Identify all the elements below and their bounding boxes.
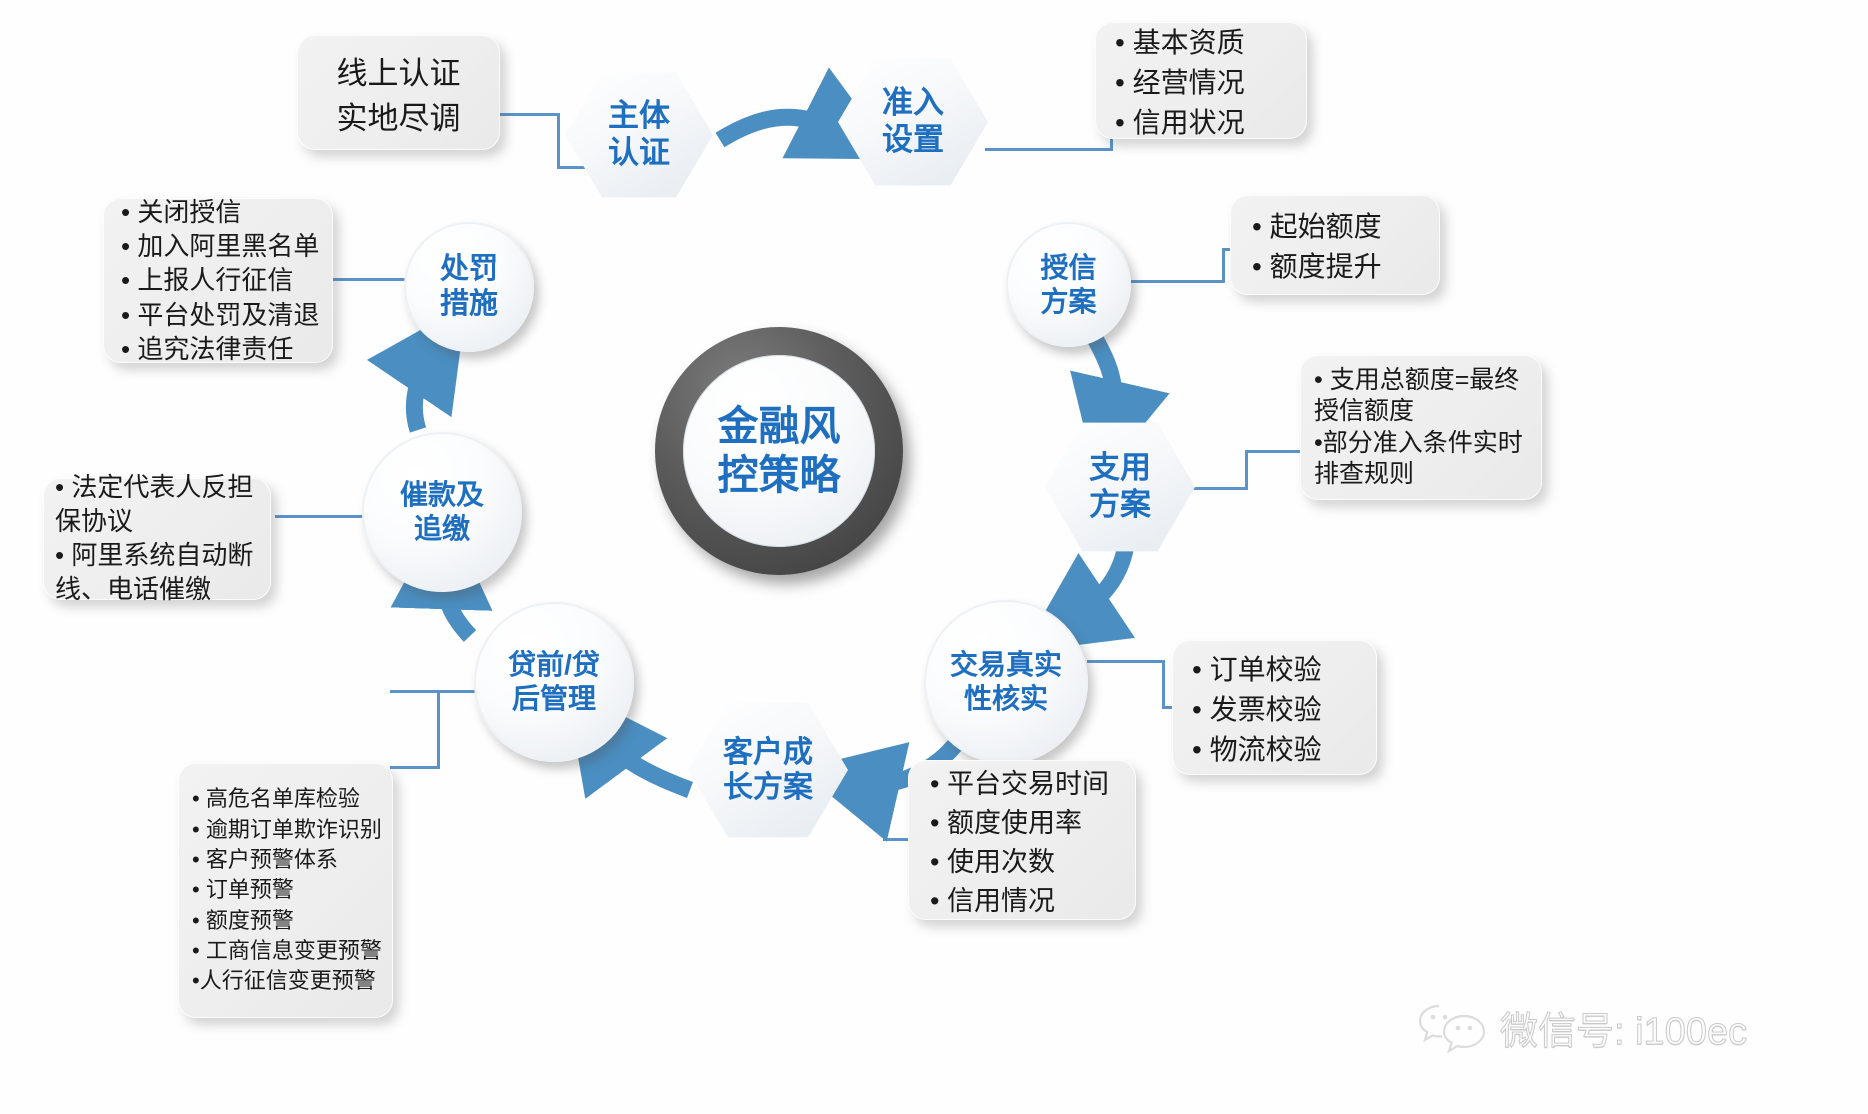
node-customer-growth-line2: 长方案 bbox=[723, 770, 813, 805]
node-access-setting[interactable]: 准入 设置 bbox=[838, 56, 988, 188]
callout-subject-auth-line-1: 实地尽调 bbox=[337, 93, 461, 138]
callout-growth-line-0: • 平台交易时间 bbox=[930, 762, 1136, 801]
diagram-canvas: 金融风 控策略 主体 认证 准入 设置 授信 方案 支用 方案 交易真实 bbox=[0, 0, 1868, 1114]
callout-subject-auth: 线上认证 实地尽调 bbox=[297, 35, 500, 150]
node-trade-verify[interactable]: 交易真实 性核实 bbox=[924, 600, 1088, 764]
callout-loan-line-2: • 客户预警体系 bbox=[192, 845, 393, 875]
node-pre-post-loan-line1: 贷前/贷 bbox=[508, 648, 600, 682]
callout-access-line-1: • 经营情况 bbox=[1115, 61, 1307, 101]
callout-growth-line-2: • 使用次数 bbox=[930, 840, 1136, 879]
center-hub: 金融风 控策略 bbox=[655, 327, 903, 575]
callout-loan-line-4: • 额度预警 bbox=[192, 906, 393, 936]
callout-loan-line-1: • 逾期订单欺诈识别 bbox=[192, 815, 393, 845]
node-trade-verify-line2: 性核实 bbox=[950, 682, 1062, 716]
callout-collection: • 法定代表人反担保协议 • 阿里系统自动断线、电话催缴 bbox=[43, 478, 271, 600]
node-credit-plan-line2: 方案 bbox=[1040, 285, 1096, 319]
node-subject-auth-line1: 主体 bbox=[608, 98, 670, 135]
callout-growth-line-1: • 额度使用率 bbox=[930, 801, 1136, 840]
callout-drawdown-plan: • 支用总额度=最终授信额度 •部分准入条件实时排查规则 bbox=[1300, 355, 1542, 500]
node-subject-auth-line2: 认证 bbox=[608, 135, 670, 172]
callout-penalty-line-2: • 上报人行征信 bbox=[121, 263, 333, 297]
callout-drawdown-line-1: •部分准入条件实时排查规则 bbox=[1314, 428, 1528, 491]
node-drawdown-plan-line2: 方案 bbox=[1089, 487, 1151, 524]
connector-subject-auth-h bbox=[500, 113, 560, 116]
callout-access-line-0: • 基本资质 bbox=[1115, 21, 1307, 61]
node-access-setting-line2: 设置 bbox=[882, 122, 944, 159]
callout-penalty-line-3: • 平台处罚及清退 bbox=[121, 298, 333, 332]
node-customer-growth[interactable]: 客户成 长方案 bbox=[688, 700, 848, 840]
callout-collection-line-1: • 阿里系统自动断线、电话催缴 bbox=[55, 539, 259, 607]
node-credit-plan-line1: 授信 bbox=[1040, 251, 1096, 285]
callout-growth-line-3: • 信用情况 bbox=[930, 879, 1136, 918]
connector-growth-v bbox=[883, 772, 886, 840]
callout-penalty-measures: • 关闭授信 • 加入阿里黑名单 • 上报人行征信 • 平台处罚及清退 • 追究… bbox=[103, 198, 333, 363]
wechat-icon bbox=[1418, 1002, 1488, 1054]
callout-loan-line-5: • 工商信息变更预警 bbox=[192, 936, 393, 966]
node-access-setting-line1: 准入 bbox=[882, 85, 944, 122]
callout-loan-line-0: • 高危名单库检验 bbox=[192, 784, 393, 814]
center-hub-label: 金融风 控策略 bbox=[683, 355, 875, 547]
callout-trade-verify: • 订单校验 • 发票校验 • 物流校验 bbox=[1172, 640, 1377, 775]
callout-trade-line-0: • 订单校验 bbox=[1192, 648, 1377, 688]
connector-credit-h1 bbox=[1125, 280, 1225, 283]
connector-access-h1 bbox=[985, 148, 1113, 151]
callout-trade-line-2: • 物流校验 bbox=[1192, 728, 1377, 768]
callout-drawdown-line-0: • 支用总额度=最终授信额度 bbox=[1314, 365, 1528, 428]
node-collection-line1: 催款及 bbox=[400, 478, 484, 512]
callout-credit-plan: • 起始额度 • 额度提升 bbox=[1230, 195, 1440, 295]
hub-title-line1: 金融风 bbox=[718, 402, 841, 451]
hub-title-line2: 控策略 bbox=[718, 451, 841, 500]
node-collection[interactable]: 催款及 追缴 bbox=[362, 432, 522, 592]
node-pre-post-loan[interactable]: 贷前/贷 后管理 bbox=[474, 602, 634, 762]
callout-loan-line-6: •人行征信变更预警 bbox=[192, 966, 393, 996]
node-trade-verify-line1: 交易真实 bbox=[950, 648, 1062, 682]
callout-pre-post-loan: • 高危名单库检验 • 逾期订单欺诈识别 • 客户预警体系 • 订单预警 • 额… bbox=[178, 763, 393, 1018]
callout-penalty-line-4: • 追究法律责任 bbox=[121, 332, 333, 366]
connector-loan-v bbox=[437, 690, 440, 768]
node-penalty-line2: 措施 bbox=[440, 287, 498, 322]
callout-access-setting: • 基本资质 • 经营情况 • 信用状况 bbox=[1095, 22, 1307, 139]
node-penalty-line1: 处罚 bbox=[440, 252, 498, 287]
callout-credit-line-1: • 额度提升 bbox=[1252, 245, 1440, 285]
connector-drawdown-v bbox=[1245, 452, 1248, 489]
connector-trade-v bbox=[1162, 660, 1165, 708]
node-pre-post-loan-line2: 后管理 bbox=[508, 682, 600, 716]
connector-loan-h2 bbox=[390, 766, 440, 769]
node-drawdown-plan[interactable]: 支用 方案 bbox=[1045, 420, 1195, 554]
watermark: 微信号: i100ec bbox=[1418, 1000, 1747, 1055]
callout-penalty-line-0: • 关闭授信 bbox=[121, 195, 333, 229]
callout-loan-line-3: • 订单预警 bbox=[192, 875, 393, 905]
callout-trade-line-1: • 发票校验 bbox=[1192, 688, 1377, 728]
callout-penalty-line-1: • 加入阿里黑名单 bbox=[121, 229, 333, 263]
callout-subject-auth-line-0: 线上认证 bbox=[337, 48, 461, 93]
connector-penalty-h1 bbox=[330, 278, 410, 281]
node-collection-line2: 追缴 bbox=[400, 512, 484, 546]
callout-access-line-2: • 信用状况 bbox=[1115, 101, 1307, 141]
connector-credit-v bbox=[1222, 250, 1225, 282]
callout-credit-line-0: • 起始额度 bbox=[1252, 205, 1440, 245]
connector-trade-h1 bbox=[1087, 660, 1165, 663]
node-penalty-measures[interactable]: 处罚 措施 bbox=[404, 222, 534, 352]
node-drawdown-plan-line1: 支用 bbox=[1089, 450, 1151, 487]
node-credit-plan[interactable]: 授信 方案 bbox=[1006, 222, 1131, 347]
node-customer-growth-line1: 客户成 bbox=[723, 735, 813, 770]
watermark-text: 微信号: i100ec bbox=[1500, 1000, 1747, 1055]
connector-subject-auth-v bbox=[557, 113, 560, 168]
callout-collection-line-0: • 法定代表人反担保协议 bbox=[55, 471, 259, 539]
callout-customer-growth: • 平台交易时间 • 额度使用率 • 使用次数 • 信用情况 bbox=[908, 760, 1136, 920]
node-subject-auth[interactable]: 主体 认证 bbox=[565, 70, 713, 200]
